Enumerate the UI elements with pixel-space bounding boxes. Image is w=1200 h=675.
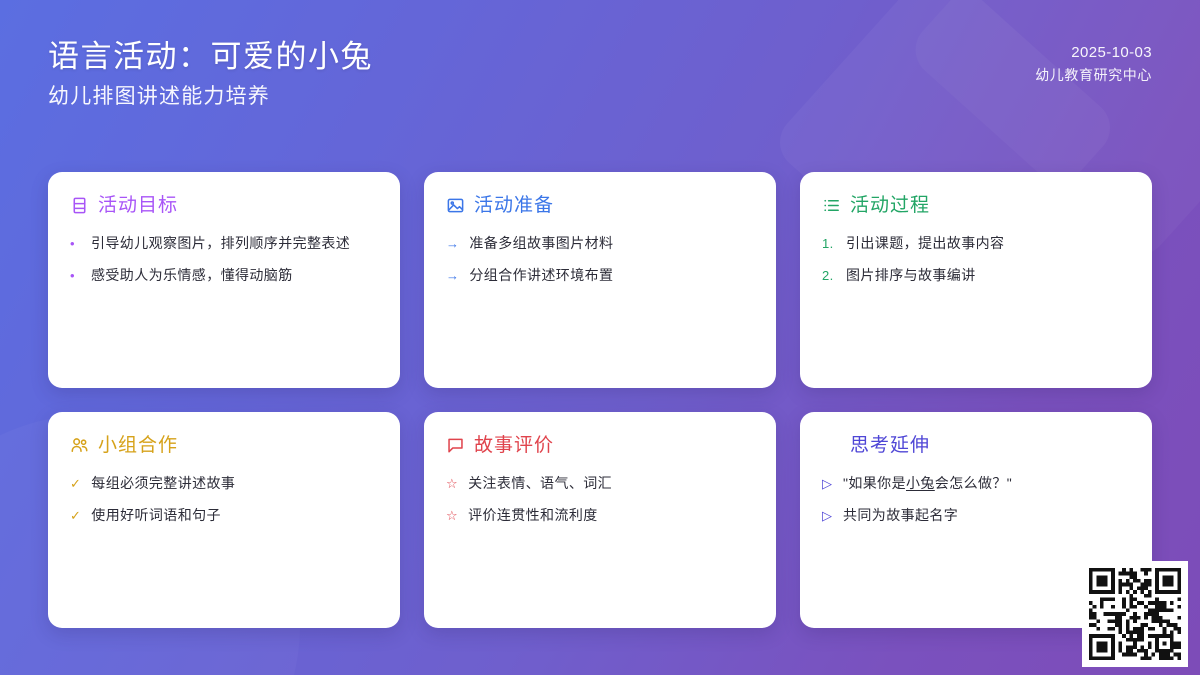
card-title: 活动过程 — [850, 196, 930, 215]
organization-label: 幼儿教育研究中心 — [1035, 65, 1152, 85]
card-1: 活动目标•引导幼儿观察图片，排列顺序并完整表述•感受助人为乐情感，懂得动脑筋 — [48, 172, 400, 388]
speech-bubble-icon — [446, 436, 465, 455]
list-item-marker: ▷ — [822, 474, 833, 494]
header-titles: 语言活动：可爱的小兔 幼儿排图讲述能力培养 — [48, 38, 373, 110]
list-item-text: "如果你是小兔会怎么做？" — [843, 473, 1012, 494]
list-item-marker: ✓ — [70, 506, 81, 526]
list-item: •引导幼儿观察图片，排列顺序并完整表述 — [70, 233, 378, 254]
header-meta: 2025-10-03 幼儿教育研究中心 — [1035, 38, 1152, 85]
card-list: ☆关注表情、语气、词汇☆评价连贯性和流利度 — [446, 473, 754, 526]
list-icon — [822, 196, 841, 215]
card-title: 活动准备 — [474, 196, 554, 215]
list-item-text: 引出课题，提出故事内容 — [846, 233, 1004, 254]
list-item: ✓使用好听词语和句子 — [70, 505, 378, 526]
card-2: 活动准备→准备多组故事图片材料→分组合作讲述环境布置 — [424, 172, 776, 388]
card-header: 活动过程 — [822, 196, 1130, 215]
list-item-marker: → — [446, 266, 459, 286]
list-item: ☆评价连贯性和流利度 — [446, 505, 754, 526]
book-icon — [70, 196, 89, 215]
list-item: ✓每组必须完整讲述故事 — [70, 473, 378, 494]
list-item-text: 使用好听词语和句子 — [91, 505, 221, 526]
card-title: 故事评价 — [474, 436, 554, 455]
list-item-text: 评价连贯性和流利度 — [468, 505, 598, 526]
qr-code[interactable] — [1082, 561, 1188, 667]
qr-code-icon — [1089, 568, 1181, 660]
list-item-marker: ▷ — [822, 506, 833, 526]
card-title: 小组合作 — [98, 436, 178, 455]
list-item-text: 每组必须完整讲述故事 — [91, 473, 235, 494]
page-title: 语言活动：可爱的小兔 — [48, 38, 373, 77]
list-item-marker: 1. — [822, 234, 836, 254]
card-5: 故事评价☆关注表情、语气、词汇☆评价连贯性和流利度 — [424, 412, 776, 628]
list-item: →准备多组故事图片材料 — [446, 233, 754, 254]
list-item-text: 图片排序与故事编讲 — [846, 265, 976, 286]
list-item-text: 关注表情、语气、词汇 — [468, 473, 612, 494]
card-grid: 活动目标•引导幼儿观察图片，排列顺序并完整表述•感受助人为乐情感，懂得动脑筋活动… — [48, 172, 1152, 628]
card-title: 活动目标 — [98, 196, 178, 215]
page-subtitle: 幼儿排图讲述能力培养 — [48, 83, 373, 110]
card-title: 思考延伸 — [850, 436, 930, 455]
list-item-marker: ☆ — [446, 506, 458, 526]
list-item: ☆关注表情、语气、词汇 — [446, 473, 754, 494]
card-list: 1.引出课题，提出故事内容2.图片排序与故事编讲 — [822, 233, 1130, 286]
card-4: 小组合作✓每组必须完整讲述故事✓使用好听词语和句子 — [48, 412, 400, 628]
list-item-marker: → — [446, 234, 459, 254]
date-label: 2025-10-03 — [1035, 44, 1152, 61]
list-item-marker: ☆ — [446, 474, 458, 494]
list-item-text: 共同为故事起名字 — [843, 505, 958, 526]
list-item: •感受助人为乐情感，懂得动脑筋 — [70, 265, 378, 286]
list-item-marker: • — [70, 234, 81, 254]
list-item-marker: 2. — [822, 266, 836, 286]
card-header: 活动目标 — [70, 196, 378, 215]
card-header: 故事评价 — [446, 436, 754, 455]
card-list: →准备多组故事图片材料→分组合作讲述环境布置 — [446, 233, 754, 286]
list-item-marker: ✓ — [70, 474, 81, 494]
list-item: ▷共同为故事起名字 — [822, 505, 1130, 526]
list-item: 2.图片排序与故事编讲 — [822, 265, 1130, 286]
card-3: 活动过程1.引出课题，提出故事内容2.图片排序与故事编讲 — [800, 172, 1152, 388]
image-icon — [446, 196, 465, 215]
list-item-text: 准备多组故事图片材料 — [469, 233, 613, 254]
card-header: 活动准备 — [446, 196, 754, 215]
card-list: •引导幼儿观察图片，排列顺序并完整表述•感受助人为乐情感，懂得动脑筋 — [70, 233, 378, 286]
list-item: →分组合作讲述环境布置 — [446, 265, 754, 286]
card-list: ✓每组必须完整讲述故事✓使用好听词语和句子 — [70, 473, 378, 526]
list-item: ▷"如果你是小兔会怎么做？" — [822, 473, 1130, 494]
card-list: ▷"如果你是小兔会怎么做？"▷共同为故事起名字 — [822, 473, 1130, 526]
list-item-marker: • — [70, 266, 81, 286]
card-header: 思考延伸 — [822, 436, 1130, 455]
list-item-text: 分组合作讲述环境布置 — [469, 265, 613, 286]
users-icon — [70, 436, 89, 455]
list-item-text: 引导幼儿观察图片，排列顺序并完整表述 — [91, 233, 350, 254]
slide-header: 语言活动：可爱的小兔 幼儿排图讲述能力培养 2025-10-03 幼儿教育研究中… — [0, 0, 1200, 150]
card-header: 小组合作 — [70, 436, 378, 455]
list-item-text: 感受助人为乐情感，懂得动脑筋 — [91, 265, 293, 286]
slide-root: 语言活动：可爱的小兔 幼儿排图讲述能力培养 2025-10-03 幼儿教育研究中… — [0, 0, 1200, 675]
list-item: 1.引出课题，提出故事内容 — [822, 233, 1130, 254]
